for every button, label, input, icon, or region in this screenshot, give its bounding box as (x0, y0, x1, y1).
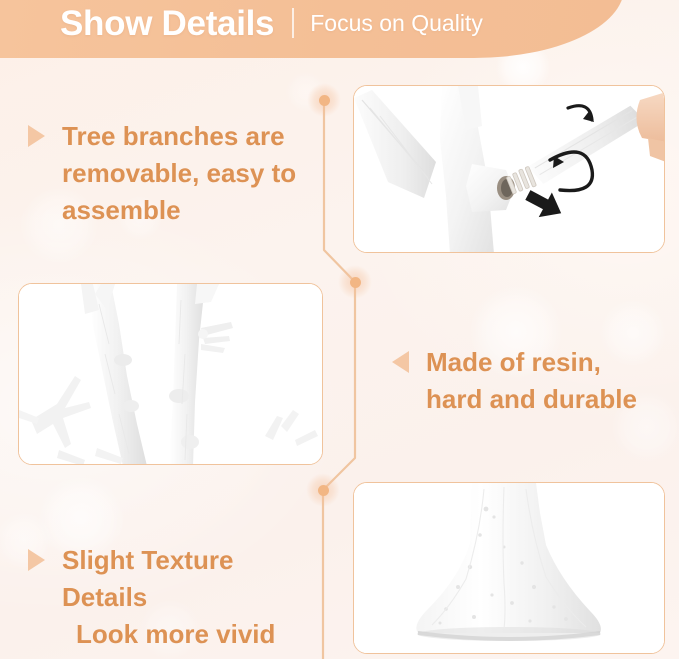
connector-node-middle (350, 277, 361, 288)
branch-assembly-illustration (354, 86, 664, 252)
branch-assembly-image (354, 86, 664, 252)
page-title: Show Details (60, 6, 274, 41)
base-illustration (354, 483, 664, 653)
caption-line: Look more vivid (62, 616, 320, 653)
caption-line: Made of resin, (426, 344, 637, 381)
vertical-divider-icon (292, 8, 294, 38)
base-image (354, 483, 664, 653)
connector-node-bottom (318, 485, 329, 496)
caption-line: Tree branches are (62, 118, 296, 155)
feature-caption: Slight Texture Details Look more vivid (62, 542, 320, 653)
branch-texture-illustration (19, 284, 322, 464)
feature-caption: Tree branches are removable, easy to ass… (62, 118, 296, 229)
branch-texture-image (19, 284, 322, 464)
connector-node-top (319, 95, 330, 106)
header-banner: Show Details Focus on Quality (0, 0, 624, 58)
caption-line: hard and durable (426, 381, 637, 418)
caption-line: Slight Texture Details (62, 542, 320, 616)
triangle-left-icon (392, 351, 409, 373)
infographic-page: Show Details Focus on Quality (0, 0, 679, 659)
caption-line: assemble (62, 192, 296, 229)
feature-removable-branches: Tree branches are removable, easy to ass… (28, 118, 318, 229)
feature-resin-material: Made of resin, hard and durable (392, 344, 654, 418)
branch-texture-photo[interactable] (18, 283, 323, 465)
caption-line: removable, easy to (62, 155, 296, 192)
page-subtitle: Focus on Quality (310, 12, 483, 35)
feature-caption: Made of resin, hard and durable (426, 344, 637, 418)
triangle-right-icon (28, 125, 45, 147)
feature-texture-details: Slight Texture Details Look more vivid (28, 542, 320, 653)
triangle-right-icon (28, 549, 45, 571)
branch-assembly-photo[interactable] (353, 85, 665, 253)
base-photo[interactable] (353, 482, 665, 654)
